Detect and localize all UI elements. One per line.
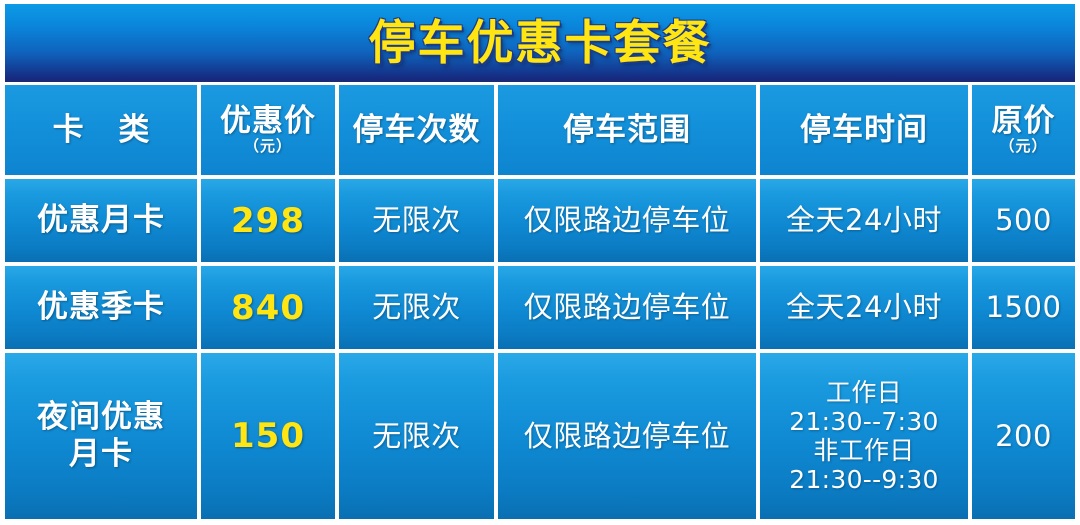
row-discount-price: 298 (201, 179, 335, 262)
row-parking-count-value: 无限次 (372, 291, 461, 323)
row-card-type-label-line2: 月卡 (37, 436, 165, 473)
row-original-price-value: 200 (995, 420, 1052, 452)
column-header-discount-price-unit: （元） (220, 138, 316, 155)
row-discount-price: 150 (201, 353, 335, 519)
row-card-type-label-line1: 夜间优惠 (37, 399, 165, 436)
column-header-discount-price: 优惠价 （元） (201, 85, 335, 175)
row-parking-count: 无限次 (339, 353, 494, 519)
row-parking-time: 全天24小时 (760, 266, 968, 349)
row-parking-count-value: 无限次 (372, 420, 461, 452)
column-header-original-price: 原价 （元） (972, 85, 1075, 175)
column-header-parking-time: 停车时间 (760, 85, 968, 175)
row-card-type: 优惠月卡 (5, 179, 197, 262)
row-discount-price-value: 150 (231, 416, 305, 456)
page-title: 停车优惠卡套餐 (369, 20, 712, 67)
column-header-parking-count: 停车次数 (339, 85, 494, 175)
column-header-original-price-unit: （元） (992, 138, 1056, 155)
row-parking-count: 无限次 (339, 179, 494, 262)
column-header-parking-range: 停车范围 (498, 85, 756, 175)
row-parking-count: 无限次 (339, 266, 494, 349)
row-parking-time-value: 全天24小时 (786, 291, 942, 323)
row-parking-time-line1: 工作日 (789, 378, 939, 407)
table-row: 优惠季卡 840 无限次 仅限路边停车位 全天24小时 1500 (5, 266, 1075, 349)
row-discount-price: 840 (201, 266, 335, 349)
table-header-row: 卡 类 优惠价 （元） 停车次数 停车范围 停车时间 原价 （元） (5, 85, 1075, 175)
row-parking-time-value: 全天24小时 (786, 204, 942, 236)
row-parking-range-value: 仅限路边停车位 (524, 291, 731, 323)
row-card-type: 优惠季卡 (5, 266, 197, 349)
row-parking-time-line4: 21:30--9:30 (789, 465, 939, 494)
table-row: 优惠月卡 298 无限次 仅限路边停车位 全天24小时 500 (5, 179, 1075, 262)
row-original-price-value: 1500 (986, 291, 1062, 323)
table-row: 夜间优惠 月卡 150 无限次 仅限路边停车位 工作日 21:30--7:30 … (5, 353, 1075, 519)
pricing-table: 卡 类 优惠价 （元） 停车次数 停车范围 停车时间 原价 （元） (5, 85, 1075, 519)
row-parking-time-line2: 21:30--7:30 (789, 407, 939, 436)
column-header-parking-time-label: 停车时间 (800, 114, 928, 146)
row-discount-price-value: 298 (231, 201, 305, 241)
row-parking-time: 全天24小时 (760, 179, 968, 262)
column-header-card-type-label: 卡 类 (41, 114, 162, 146)
row-card-type: 夜间优惠 月卡 (5, 353, 197, 519)
row-parking-time: 工作日 21:30--7:30 非工作日 21:30--9:30 (760, 353, 968, 519)
row-parking-range: 仅限路边停车位 (498, 266, 756, 349)
column-header-discount-price-label: 优惠价 (220, 105, 316, 137)
column-header-card-type: 卡 类 (5, 85, 197, 175)
row-discount-price-value: 840 (231, 288, 305, 328)
row-card-type-label: 优惠季卡 (37, 289, 165, 326)
row-parking-range-value: 仅限路边停车位 (524, 420, 731, 452)
row-parking-range: 仅限路边停车位 (498, 353, 756, 519)
row-original-price: 500 (972, 179, 1075, 262)
row-parking-time-line3: 非工作日 (789, 436, 939, 465)
row-parking-range-value: 仅限路边停车位 (524, 204, 731, 236)
title-banner: 停车优惠卡套餐 (5, 4, 1075, 82)
column-header-original-price-label: 原价 (992, 105, 1056, 137)
column-header-parking-range-label: 停车范围 (563, 114, 691, 146)
row-parking-count-value: 无限次 (372, 204, 461, 236)
parking-card-package-poster: 停车优惠卡套餐 卡 类 优惠价 （元） 停车次数 停车范围 停车时间 (0, 0, 1080, 525)
row-original-price: 1500 (972, 266, 1075, 349)
column-header-parking-count-label: 停车次数 (353, 114, 481, 146)
row-original-price-value: 500 (995, 204, 1052, 236)
row-parking-range: 仅限路边停车位 (498, 179, 756, 262)
row-card-type-label: 优惠月卡 (37, 202, 165, 239)
row-original-price: 200 (972, 353, 1075, 519)
